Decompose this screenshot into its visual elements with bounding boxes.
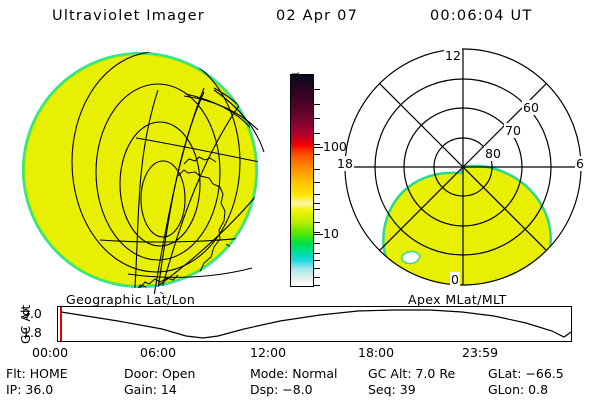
status-mode: Mode: Normal <box>250 366 337 381</box>
polar-caption: Apex MLat/MLT <box>408 292 507 307</box>
colorbar-minor-tick <box>313 253 320 254</box>
colorbar-panel: photon cm-2s-1 10010 <box>268 60 330 295</box>
polar-mlt-label-2: 6 <box>575 156 585 171</box>
status-ip: IP: 36.0 <box>6 382 53 397</box>
colorbar-minor-tick <box>313 89 320 90</box>
altitude-trace <box>58 307 571 341</box>
polar-mlat-label-2: 80 <box>484 146 502 161</box>
status-gain: Gain: 14 <box>124 382 177 397</box>
time-tick-4: 23:59 <box>462 345 498 360</box>
colorbar-gradient-box <box>290 74 314 287</box>
colorbar-minor-tick <box>313 118 320 119</box>
time-tick-0: 00:00 <box>32 345 68 360</box>
instrument-title: Ultraviolet Imager <box>52 8 205 24</box>
colorbar-minor-tick <box>313 209 320 210</box>
colorbar-minor-tick <box>313 222 320 223</box>
colorbar-minor-tick <box>313 268 320 269</box>
colorbar-minor-tick <box>313 154 320 155</box>
observation-date: 02 Apr 07 <box>276 8 358 24</box>
altitude-plot[interactable] <box>57 306 572 342</box>
altitude-axis-label: GC Alt <box>4 300 22 344</box>
polar-mlt-label-0: 12 <box>444 48 462 63</box>
globe-overlay <box>8 44 266 294</box>
observation-time: 00:06:04 UT <box>430 8 532 24</box>
colorbar-minor-tick <box>313 243 320 244</box>
colorbar-minor-tick <box>313 232 320 233</box>
polar-mlat-label-1: 70 <box>504 123 522 138</box>
colorbar-minor-tick <box>313 203 320 204</box>
status-glon: GLon: 0.8 <box>488 382 548 397</box>
status-flight: Flt: HOME <box>6 366 68 381</box>
polar-mlt-label-3: 0 <box>450 272 460 287</box>
colorbar-minor-tick <box>313 194 320 195</box>
status-dsp: Dsp: −8.0 <box>250 382 313 397</box>
colorbar-major-tick <box>313 147 323 148</box>
colorbar-minor-tick <box>313 277 320 278</box>
status-glat: GLat: −66.5 <box>488 366 564 381</box>
colorbar-minor-tick <box>313 169 320 170</box>
globe-caption: Geographic Lat/Lon <box>66 292 195 307</box>
polar-mlat-label-0: 60 <box>522 100 540 115</box>
status-seq: Seq: 39 <box>368 382 416 397</box>
colorbar-minor-tick <box>313 285 320 286</box>
polar-mlt-label-1: 18 <box>336 156 354 171</box>
time-tick-2: 12:00 <box>250 345 286 360</box>
colorbar-minor-tick <box>313 260 320 261</box>
time-tick-1: 06:00 <box>140 345 176 360</box>
geographic-globe-panel[interactable] <box>8 44 266 294</box>
status-gc-alt: GC Alt: 7.0 Re <box>368 366 455 381</box>
apex-polar-panel[interactable]: 121860607080 <box>332 44 594 294</box>
colorbar-gradient <box>291 75 313 286</box>
altitude-tick-low: 1.8 <box>22 325 42 340</box>
colorbar-minor-tick <box>313 182 320 183</box>
time-tick-3: 18:00 <box>358 345 394 360</box>
current-time-marker <box>60 307 62 341</box>
colorbar-major-tick <box>313 234 323 235</box>
status-door: Door: Open <box>124 366 195 381</box>
polar-grid <box>332 44 594 294</box>
colorbar-minor-tick <box>313 144 320 145</box>
colorbar-minor-tick <box>313 133 320 134</box>
altitude-tick-high: 9.0 <box>22 306 42 321</box>
colorbar-minor-tick <box>313 104 320 105</box>
